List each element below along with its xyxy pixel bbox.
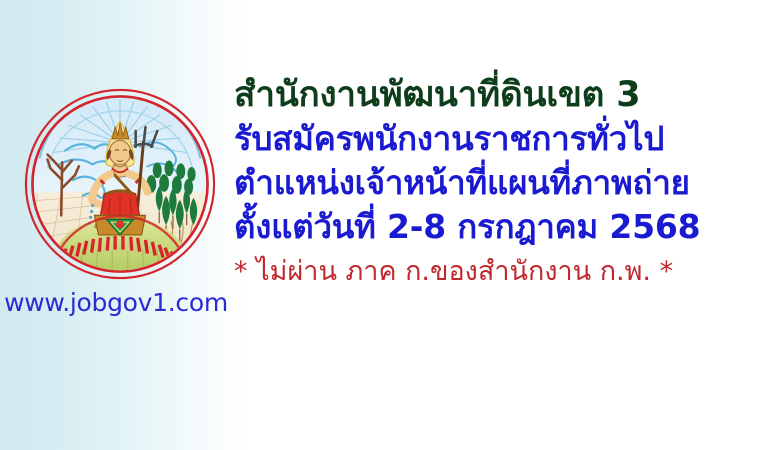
announcement-banner: www.jobgov1.com สำนักงานพัฒนาที่ดินเขต 3… (0, 0, 770, 450)
announcement-title: สำนักงานพัฒนาที่ดินเขต 3 (234, 78, 764, 122)
announcement-note-line: * ไม่ผ่าน ภาค ก.ของสำนักงาน ก.พ. * (234, 254, 764, 300)
land-development-department-seal-icon (22, 86, 218, 282)
announcement-position-line: ตำแหน่งเจ้าหน้าที่แผนที่ภาพถ่าย (234, 166, 764, 210)
announcement-recruit-line: รับสมัครพนักงานราชการทั่วไป (234, 122, 764, 166)
site-url-label: www.jobgov1.com (0, 288, 232, 317)
announcement-dates-line: ตั้งแต่วันที่ 2-8 กรกฎาคม 2568 (234, 210, 764, 254)
announcement-text-block: สำนักงานพัฒนาที่ดินเขต 3 รับสมัครพนักงาน… (234, 78, 764, 300)
emblem-block: www.jobgov1.com (0, 0, 232, 340)
